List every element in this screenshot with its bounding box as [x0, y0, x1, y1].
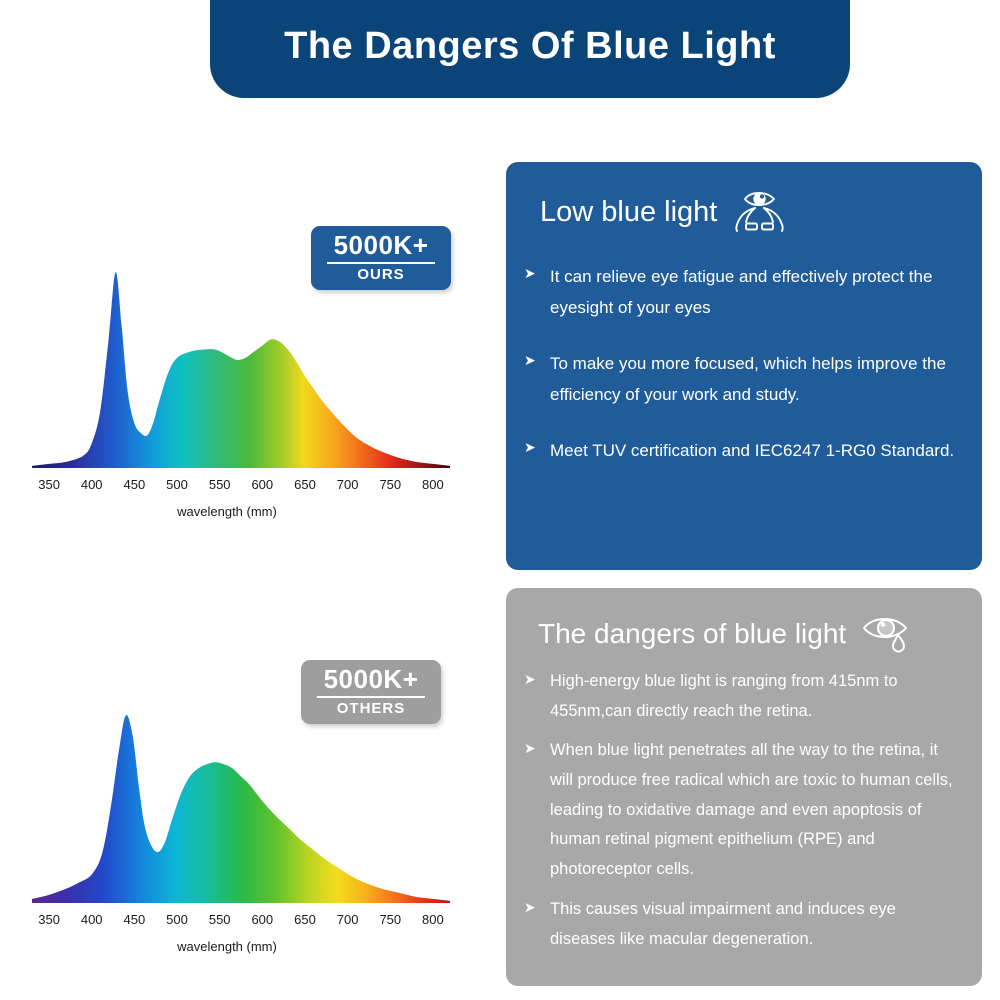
x-tick-label: 400: [81, 477, 103, 492]
x-axis-ticks-others: 350400450500550600650700750800: [18, 912, 458, 930]
x-tick-label: 500: [166, 477, 188, 492]
x-tick-label: 600: [251, 477, 273, 492]
badge-others-value: 5000K+: [315, 666, 427, 693]
x-tick-label: 350: [38, 477, 60, 492]
header-banner: The Dangers Of Blue Light: [210, 0, 850, 98]
crying-eye-icon: [860, 608, 916, 659]
x-tick-label: 350: [38, 912, 60, 927]
x-axis-label-ours: wavelength (mm): [0, 504, 458, 519]
spectrum-chart-ours: 350400450500550600650700750800 wavelengt…: [18, 250, 458, 520]
list-item: ➤ High-energy blue light is ranging from…: [524, 667, 960, 726]
page-title: The Dangers Of Blue Light: [284, 25, 776, 68]
panel-low-blue-header: Low blue light: [540, 186, 960, 239]
badge-others-label: OTHERS: [315, 701, 427, 718]
bullet-text: Meet TUV certification and IEC6247 1-RG0…: [550, 435, 960, 466]
x-tick-label: 550: [209, 477, 231, 492]
x-tick-label: 450: [124, 477, 146, 492]
list-item: ➤ It can relieve eye fatigue and effecti…: [524, 261, 960, 324]
x-tick-label: 400: [81, 912, 103, 927]
x-tick-label: 550: [209, 912, 231, 927]
bullet-text: When blue light penetrates all the way t…: [550, 736, 960, 884]
arrow-bullet-icon: ➤: [524, 736, 542, 762]
x-axis-ticks-ours: 350400450500550600650700750800: [18, 477, 458, 495]
badge-others-divider: [317, 696, 425, 698]
banner-notch-left: [174, 0, 210, 36]
panel-low-blue-light: Low blue light ➤ It can relieve eye: [506, 162, 982, 570]
bullet-text: High-energy blue light is ranging from 4…: [550, 667, 960, 726]
badge-ours-label: OURS: [325, 267, 437, 284]
x-tick-label: 700: [337, 912, 359, 927]
list-item: ➤ This causes visual impairment and indu…: [524, 895, 960, 954]
x-tick-label: 750: [379, 912, 401, 927]
x-tick-label: 450: [124, 912, 146, 927]
arrow-bullet-icon: ➤: [524, 348, 542, 374]
x-tick-label: 650: [294, 912, 316, 927]
list-item: ➤ When blue light penetrates all the way…: [524, 736, 960, 884]
badge-ours: 5000K+ OURS: [311, 226, 451, 290]
badge-others: 5000K+ OTHERS: [301, 660, 441, 724]
banner-notch-right: [850, 0, 886, 36]
x-tick-label: 800: [422, 912, 444, 927]
spectrum-chart-others: 350400450500550600650700750800 wavelengt…: [18, 685, 458, 955]
panel-dangers-bullets: ➤ High-energy blue light is ranging from…: [524, 667, 960, 954]
bullet-text: It can relieve eye fatigue and effective…: [550, 261, 960, 324]
list-item: ➤ Meet TUV certification and IEC6247 1-R…: [524, 435, 960, 466]
list-item: ➤ To make you more focused, which helps …: [524, 348, 960, 411]
bullet-text: To make you more focused, which helps im…: [550, 348, 960, 411]
x-tick-label: 800: [422, 477, 444, 492]
arrow-bullet-icon: ➤: [524, 667, 542, 693]
panel-low-blue-bullets: ➤ It can relieve eye fatigue and effecti…: [524, 261, 960, 466]
x-tick-label: 600: [251, 912, 273, 927]
x-tick-label: 700: [337, 477, 359, 492]
arrow-bullet-icon: ➤: [524, 261, 542, 287]
arrow-bullet-icon: ➤: [524, 895, 542, 921]
x-tick-label: 750: [379, 477, 401, 492]
panel-low-blue-heading: Low blue light: [540, 196, 717, 229]
x-tick-label: 650: [294, 477, 316, 492]
bullet-text: This causes visual impairment and induce…: [550, 895, 960, 954]
arrow-bullet-icon: ➤: [524, 435, 542, 461]
badge-ours-value: 5000K+: [325, 232, 437, 259]
x-axis-label-others: wavelength (mm): [0, 939, 458, 954]
eye-in-hands-icon: [731, 186, 789, 239]
panel-dangers-header: The dangers of blue light: [538, 608, 960, 659]
x-tick-label: 500: [166, 912, 188, 927]
badge-ours-divider: [327, 262, 435, 264]
panel-dangers-heading: The dangers of blue light: [538, 618, 846, 650]
panel-dangers-of-blue-light: The dangers of blue light ➤ High-energy …: [506, 588, 982, 986]
